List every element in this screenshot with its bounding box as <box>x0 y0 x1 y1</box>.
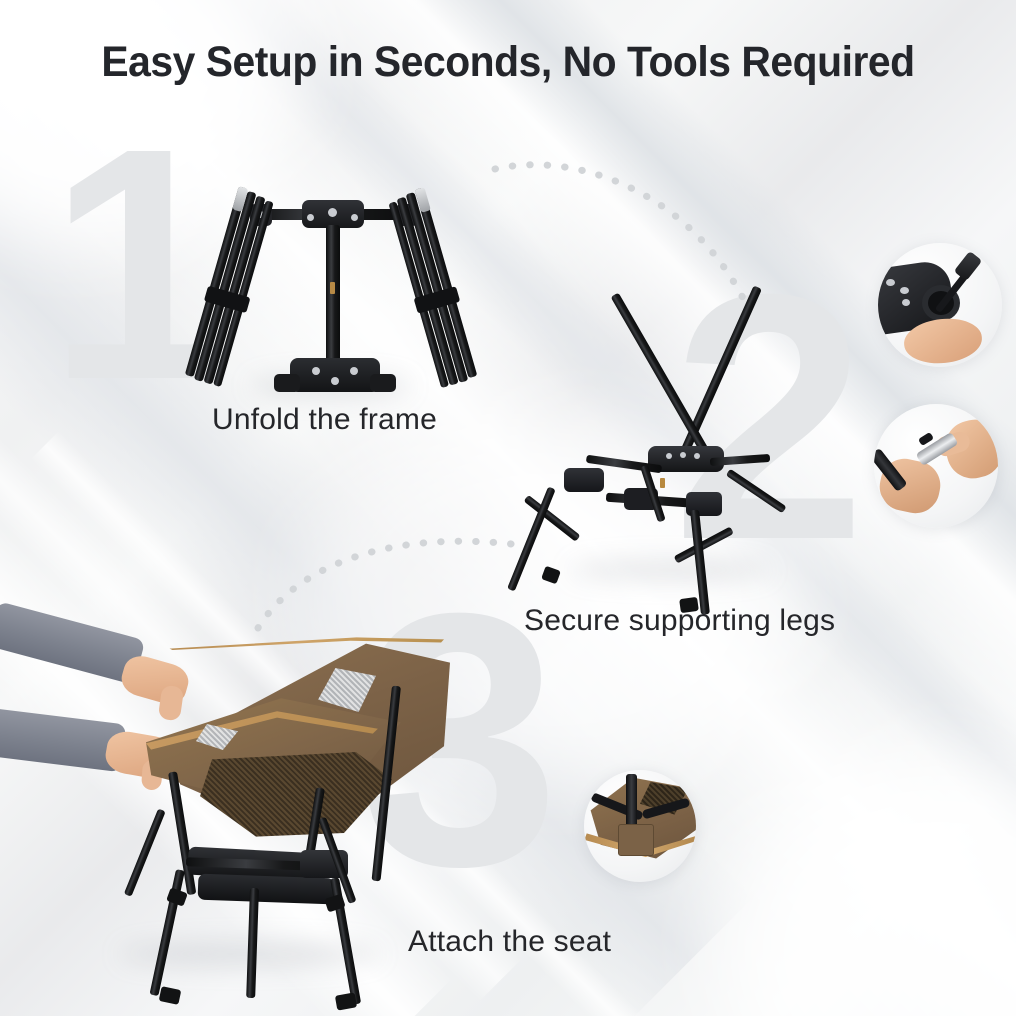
frame-bottom-foot-left <box>274 374 300 392</box>
hub-rivet-2 <box>680 452 686 458</box>
inset-pole-into-hub <box>878 243 1002 367</box>
step-1-caption: Unfold the frame <box>212 403 437 437</box>
drop-shadow-step2 <box>570 560 770 580</box>
page-title: Easy Setup in Seconds, No Tools Required <box>25 38 990 87</box>
frame-center-post <box>326 225 340 365</box>
frame-right-pole-bundle <box>383 185 486 391</box>
seat-mesh-pouch-dark <box>200 752 400 844</box>
step-2-illustration <box>520 260 830 590</box>
inset-pole-ferrule <box>954 251 983 281</box>
step-3-illustration <box>0 612 470 1016</box>
frame-bottom-hub <box>290 358 380 392</box>
center-post-marker <box>330 282 335 294</box>
leg-lower-right <box>726 469 787 514</box>
chair-foot-front-right <box>335 992 357 1010</box>
rivet-top-left <box>307 214 314 221</box>
chair-leg-back-left <box>124 809 166 897</box>
step-3-caption: Attach the seat <box>408 925 611 959</box>
step-1-illustration <box>190 170 470 400</box>
chair-foot-front-left <box>159 986 182 1005</box>
rivet-bottom-2 <box>350 367 358 375</box>
backrest-pole-left <box>672 285 762 471</box>
inset-joining-pole-segments <box>874 404 998 528</box>
rivet-bottom-1 <box>312 367 320 375</box>
frame-left-pole-bundle <box>180 185 283 391</box>
chair-leg-front-left <box>149 869 184 996</box>
frame-bottom-foot-right <box>370 374 396 392</box>
left-side-hub <box>564 468 604 492</box>
rivet-bottom-3 <box>331 377 339 385</box>
hub-rivet-a <box>886 279 895 286</box>
inset-seat-corner-pocket <box>584 770 696 882</box>
chair-lower-hub <box>198 874 335 905</box>
rivet-top-center <box>328 208 337 217</box>
corner-glow-bottom-right <box>720 760 1016 1016</box>
infographic-canvas: 1 2 3 <box>0 0 1016 1016</box>
hub-rivet-1 <box>666 453 672 459</box>
seat-trim-top <box>152 636 444 650</box>
hub-accent <box>660 478 665 488</box>
chair-leg-center-front <box>246 888 259 998</box>
inset3-pocket <box>618 824 654 856</box>
rivet-top-right <box>351 214 358 221</box>
hub-rivet-3 <box>694 453 700 459</box>
backrest-pole-right <box>611 293 719 471</box>
foot-left <box>541 566 561 585</box>
hub-rivet-b <box>900 287 909 294</box>
finger-upper <box>158 685 185 722</box>
hub-rivet-c <box>902 299 910 306</box>
step-2-caption: Secure supporting legs <box>524 604 835 638</box>
